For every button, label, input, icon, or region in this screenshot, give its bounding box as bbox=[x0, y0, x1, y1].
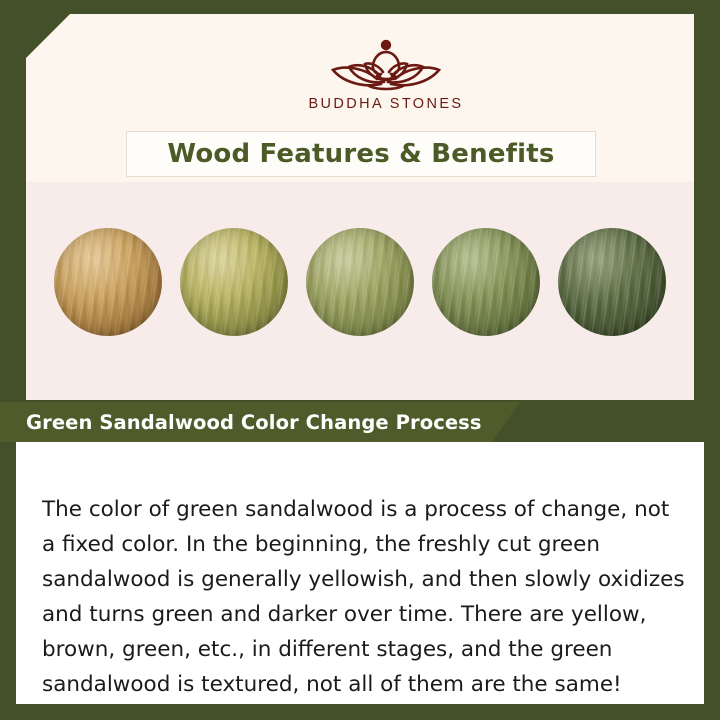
section-label-text: Green Sandalwood Color Change Process bbox=[26, 411, 482, 434]
poster-root: BUDDHA STONES Wood Features & Benefits bbox=[0, 0, 720, 720]
swatch-sheen bbox=[432, 228, 540, 336]
section-label: Green Sandalwood Color Change Process bbox=[0, 402, 520, 442]
swatch-stage-1 bbox=[54, 228, 162, 336]
brand-name: BUDDHA STONES bbox=[26, 96, 720, 112]
lotus-buddha-icon bbox=[311, 32, 461, 94]
swatch-stage-2 bbox=[180, 228, 288, 336]
body-paragraph: The color of green sandalwood is a proce… bbox=[42, 492, 686, 702]
swatch-stage-3 bbox=[306, 228, 414, 336]
swatch-sheen bbox=[180, 228, 288, 336]
page-title-text: Wood Features & Benefits bbox=[167, 139, 554, 169]
brand-block: BUDDHA STONES bbox=[26, 32, 720, 112]
page-title: Wood Features & Benefits bbox=[126, 131, 596, 177]
swatch-sheen bbox=[558, 228, 666, 336]
swatch-stage-4 bbox=[432, 228, 540, 336]
swatch-stage-5 bbox=[558, 228, 666, 336]
swatch-band bbox=[26, 182, 694, 400]
swatch-sheen bbox=[54, 228, 162, 336]
swatch-row bbox=[26, 228, 694, 336]
swatch-sheen bbox=[306, 228, 414, 336]
body-panel: The color of green sandalwood is a proce… bbox=[16, 442, 704, 704]
